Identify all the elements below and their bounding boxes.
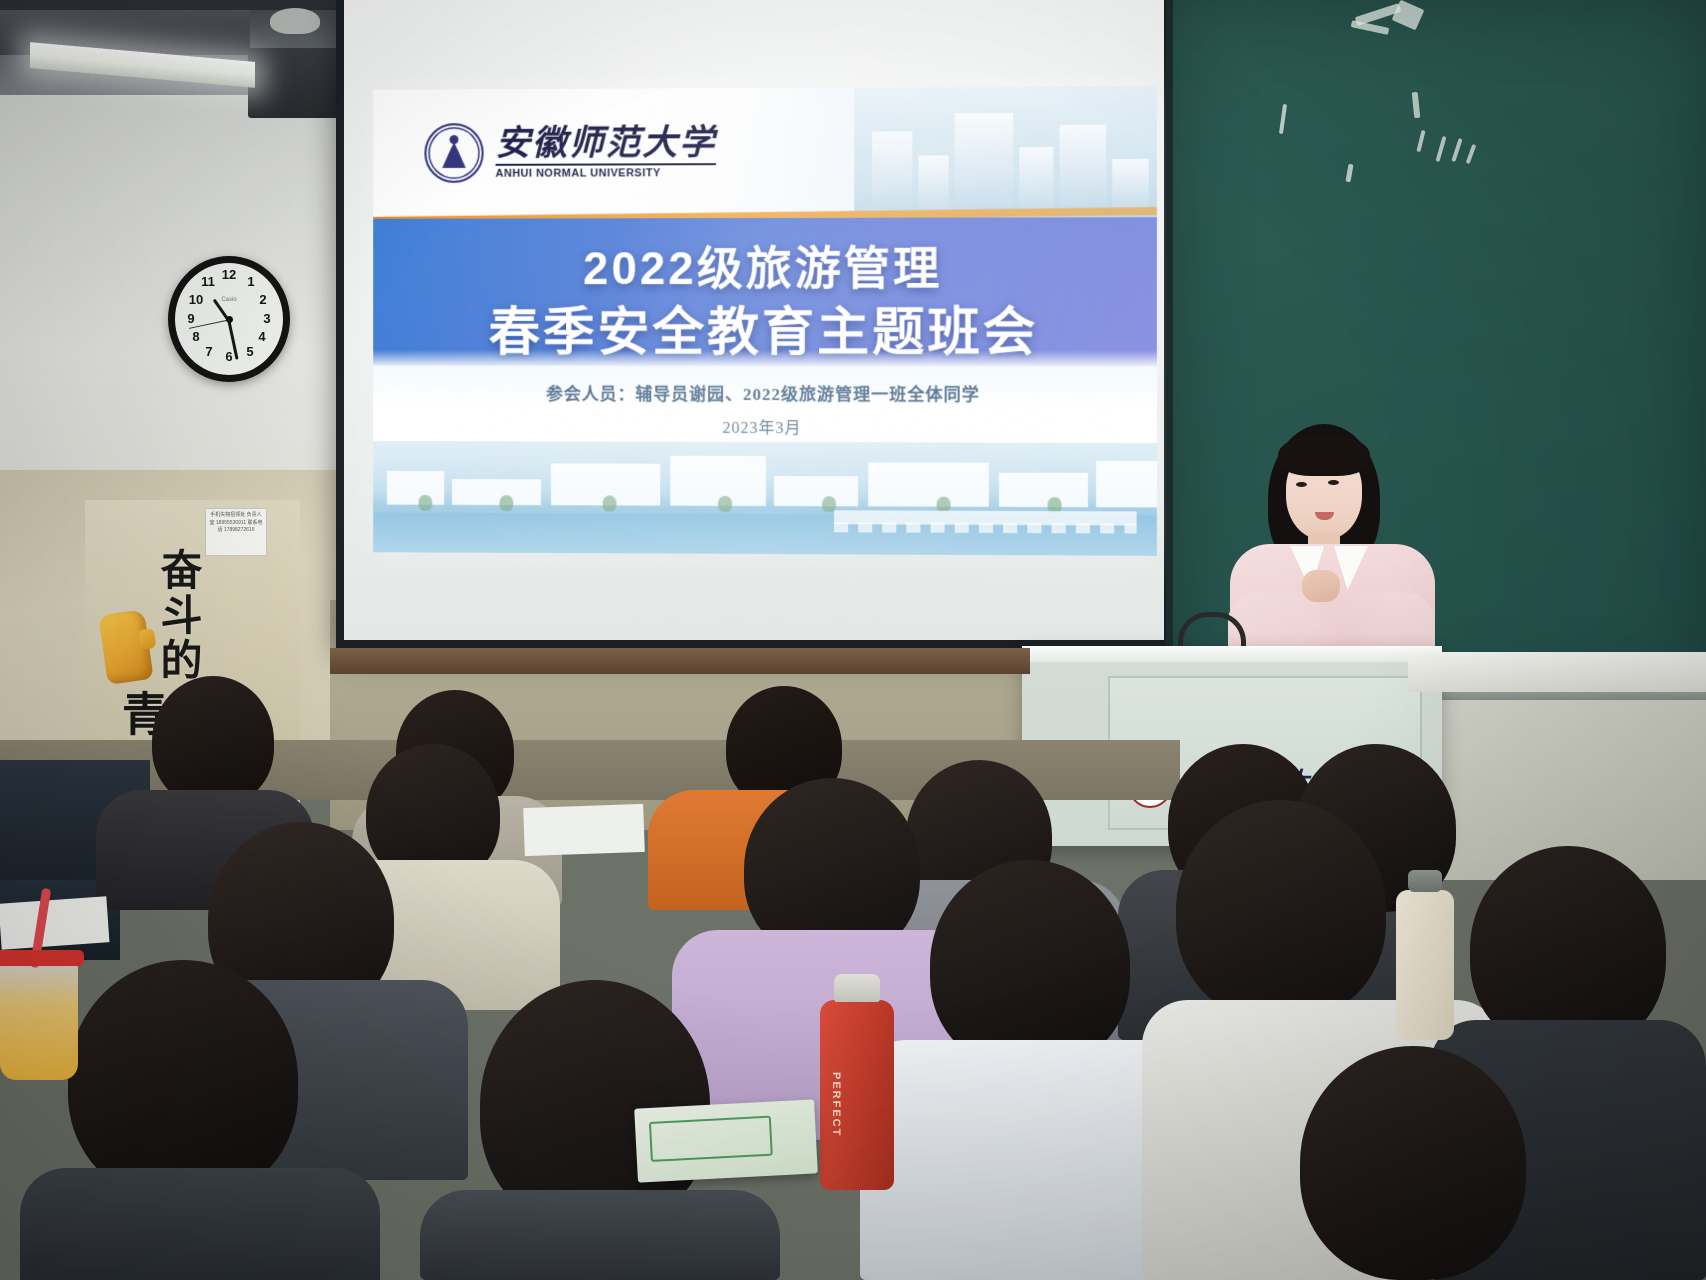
- building-shape: [872, 131, 912, 217]
- chalk-mark: [1451, 138, 1462, 162]
- chalk-mark: [1412, 92, 1421, 118]
- chalk-mark: [1345, 164, 1353, 183]
- chalk-mark: [1416, 130, 1425, 152]
- campus-building: [774, 476, 858, 506]
- bottle-cap: [834, 974, 880, 1002]
- poster-column-1: 奋斗的: [157, 548, 199, 683]
- wall-notice: 手机失物招领处 负责人室 18955530911 联系电话 1789827261…: [205, 508, 267, 556]
- building-shape: [955, 113, 1013, 218]
- clock-number: 12: [221, 267, 237, 282]
- seal-emblem: [442, 142, 466, 168]
- clock-number: 2: [255, 292, 271, 307]
- clock-number: 1: [243, 274, 259, 289]
- water-bottle: PERFECT: [820, 1000, 894, 1190]
- slide-title-line1: 2022级旅游管理: [373, 231, 1157, 298]
- chalk-mark: [1435, 136, 1446, 162]
- clock-number: 4: [254, 329, 270, 344]
- slide-header-area: 安徽师范大学 ANHUI NORMAL UNIVERSITY: [373, 86, 1157, 219]
- building-shape: [1019, 147, 1053, 217]
- cup-lid: [0, 950, 84, 966]
- student-shoulders: [20, 1168, 380, 1280]
- notebook: [634, 1099, 818, 1182]
- clock-number: 3: [259, 311, 275, 326]
- slide-campus-photo: [373, 441, 1157, 556]
- clock-number: 9: [183, 311, 199, 326]
- paper-sheet: [523, 804, 645, 856]
- campus-building: [670, 456, 766, 506]
- student-head: [152, 676, 274, 806]
- university-seal-icon: [424, 123, 483, 183]
- security-camera-icon: [270, 8, 320, 34]
- campus-bridge: [834, 510, 1137, 525]
- clock-center-pin: [226, 316, 233, 323]
- campus-tree: [603, 495, 617, 511]
- slide-logo-name-cn: 安徽师范大学: [496, 125, 717, 161]
- instructor-figure: [1216, 424, 1446, 684]
- slide-logo-name-en: ANHUI NORMAL UNIVERSITY: [496, 163, 717, 180]
- slide-title-banner: 2022级旅游管理 春季安全教育主题班会: [373, 217, 1157, 366]
- instructor-eye: [1296, 482, 1307, 487]
- building-shape: [918, 155, 948, 217]
- instructor-fringe: [1278, 434, 1370, 476]
- clock-number: 11: [200, 274, 216, 289]
- side-desk: [1408, 652, 1706, 692]
- chalk-mark: [1466, 144, 1477, 164]
- student-head: [930, 860, 1130, 1070]
- student-head: [1176, 800, 1386, 1020]
- back-desk-row: [330, 648, 1030, 674]
- slide-header-building-image: [854, 86, 1157, 218]
- instructor-hand: [1302, 570, 1340, 602]
- campus-building: [452, 479, 541, 505]
- slide-date-text: 2023年3月: [373, 413, 1157, 439]
- student-shoulders: [420, 1190, 780, 1280]
- student-head: [1300, 1046, 1526, 1280]
- thermos-bottle: [1396, 890, 1454, 1040]
- student-head: [68, 960, 298, 1200]
- clock-number: 5: [242, 344, 258, 359]
- wall-clock-icon: 12 1 2 3 4 5 6 7 8 9 10 11 Casio: [168, 256, 290, 382]
- chalk-mark: [1279, 104, 1287, 134]
- campus-building: [868, 462, 989, 507]
- campus-building: [1096, 461, 1157, 508]
- slide-title-line2: 春季安全教育主题班会: [373, 290, 1157, 366]
- notebook-cover-band: [649, 1116, 773, 1162]
- clock-number: 7: [201, 344, 217, 359]
- campus-tree: [718, 496, 732, 512]
- campus-building: [387, 471, 444, 505]
- clock-number: 8: [188, 329, 204, 344]
- building-shape: [1060, 125, 1107, 218]
- campus-tree: [419, 495, 433, 511]
- clock-brand: Casio: [221, 297, 236, 303]
- classroom-photo: 12 1 2 3 4 5 6 7 8 9 10 11 Casio 奋斗的 青春 …: [0, 0, 1706, 1280]
- chalk-mark: [1351, 20, 1390, 35]
- slide-attendees-text: 参会人员：辅导员谢园、2022级旅游管理一班全体同学: [373, 380, 1157, 406]
- drink-cup: [0, 960, 78, 1080]
- instructor-eye: [1328, 480, 1339, 485]
- campus-building: [999, 473, 1088, 507]
- raised-fist-icon: [98, 609, 153, 685]
- bottle-label: PERFECT: [830, 1072, 842, 1137]
- presentation-slide: 安徽师范大学 ANHUI NORMAL UNIVERSITY 2022级旅游管理…: [373, 86, 1157, 556]
- clock-number: 10: [188, 292, 204, 307]
- paper-sheet: [0, 896, 109, 949]
- bottle-cap: [1408, 870, 1442, 892]
- lectern-top: [1022, 646, 1442, 662]
- slide-university-logo: 安徽师范大学 ANHUI NORMAL UNIVERSITY: [424, 122, 716, 183]
- campus-tree: [499, 495, 513, 511]
